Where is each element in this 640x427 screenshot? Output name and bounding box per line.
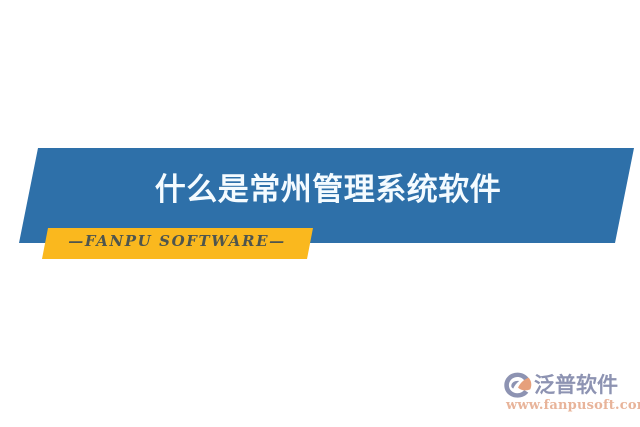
fanpu-swoosh-icon — [503, 371, 532, 399]
logo-mark-and-wordmark: 泛普软件 — [503, 370, 618, 400]
brand-logo: 泛普软件 www.fanpusoft.com — [503, 370, 637, 418]
logo-url: www.fanpusoft.com — [506, 398, 640, 414]
slide-canvas: 什么是常州管理系统软件 —FANPU SOFTWARE— 泛普软件 www.fa… — [0, 0, 640, 427]
banner-shapes-svg — [0, 0, 640, 427]
yellow-accent-shape — [42, 228, 313, 259]
banner-graphic: 什么是常州管理系统软件 —FANPU SOFTWARE— — [0, 0, 640, 427]
logo-wordmark: 泛普软件 — [534, 372, 618, 398]
